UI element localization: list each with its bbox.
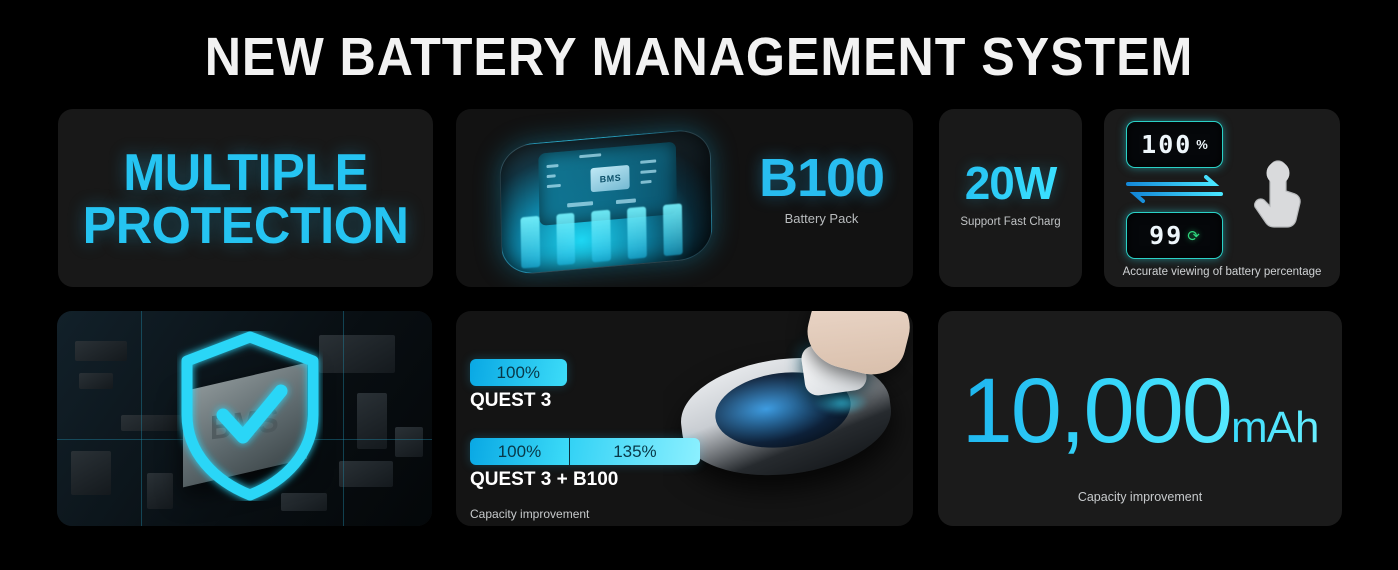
- capacity-bars: 100% QUEST 3 100% 135% QUEST 3 + B100 Ca…: [470, 359, 700, 521]
- panel-fast-charge: 20W Support Fast Charg: [939, 109, 1082, 287]
- sync-arrows-icon: [1126, 175, 1223, 205]
- battery-pack-label: B100 Battery Pack: [734, 147, 909, 226]
- led-display-bottom: 99 ⟳: [1126, 212, 1223, 259]
- led-display-bottom-value: 99: [1149, 221, 1183, 250]
- panel-battery-pack: BMS B100 Battery P: [456, 109, 913, 287]
- capacity-bar-quest3: 100%: [470, 359, 567, 386]
- panel-capacity-total: 10,000mAh Capacity improvement: [938, 311, 1342, 526]
- vr-headset-image: [663, 311, 913, 526]
- capacity-total-number: 10,000: [962, 360, 1231, 462]
- product-feature-banner: NEW BATTERY MANAGEMENT SYSTEM MULTIPLE P…: [0, 0, 1398, 570]
- capacity-bar-quest3-b100: 100% 135%: [470, 438, 700, 465]
- led-display-top-unit: %: [1196, 137, 1208, 152]
- panel-protection-shield: BMS: [57, 311, 432, 526]
- battery-pack-subtitle: Battery Pack: [734, 211, 909, 226]
- panel-capacity-comparison: 100% QUEST 3 100% 135% QUEST 3 + B100 Ca…: [456, 311, 913, 526]
- panel-battery-percentage: 100 % 99 ⟳: [1104, 109, 1340, 287]
- capacity-total-caption: Capacity improvement: [938, 490, 1342, 504]
- fast-charge-text: 20W Support Fast Charg: [939, 156, 1082, 228]
- bms-chip-icon: BMS: [591, 165, 630, 193]
- panel-multiple-protection: MULTIPLE PROTECTION: [58, 109, 433, 287]
- capacity-comparison-caption: Capacity improvement: [470, 507, 700, 521]
- capacity-total-value-row: 10,000mAh: [938, 359, 1342, 464]
- battery-pack-xray-image: BMS: [470, 117, 728, 282]
- page-title: NEW BATTERY MANAGEMENT SYSTEM: [49, 26, 1349, 88]
- tap-hand-icon: [1250, 157, 1306, 233]
- capacity-bar-quest3-b100-segment-2: 135%: [569, 438, 700, 465]
- capacity-bar-quest3-label: QUEST 3: [470, 390, 700, 412]
- multiple-protection-text: MULTIPLE PROTECTION: [58, 147, 433, 253]
- led-display-top-value: 100: [1141, 130, 1192, 159]
- capacity-bar-quest3-segment-1: 100%: [470, 359, 567, 386]
- led-display-top: 100 %: [1126, 121, 1223, 168]
- battery-pack-model: B100: [734, 147, 909, 209]
- capacity-bar-quest3-b100-segment-1: 100%: [470, 438, 569, 465]
- shield-check-icon: [177, 331, 323, 501]
- percentage-caption: Accurate viewing of battery percentage: [1104, 266, 1340, 278]
- multiple-protection-line-1: MULTIPLE: [64, 147, 428, 200]
- capacity-total-unit: mAh: [1231, 403, 1318, 452]
- percentage-illustration: 100 % 99 ⟳: [1104, 109, 1340, 287]
- multiple-protection-line-2: PROTECTION: [64, 200, 428, 253]
- capacity-bar-quest3-b100-label: QUEST 3 + B100: [470, 469, 700, 491]
- fast-charge-subtitle: Support Fast Charg: [939, 216, 1082, 228]
- recycle-icon: ⟳: [1187, 227, 1200, 245]
- fast-charge-value: 20W: [939, 156, 1082, 210]
- battery-pack-body: BMS: [499, 128, 712, 277]
